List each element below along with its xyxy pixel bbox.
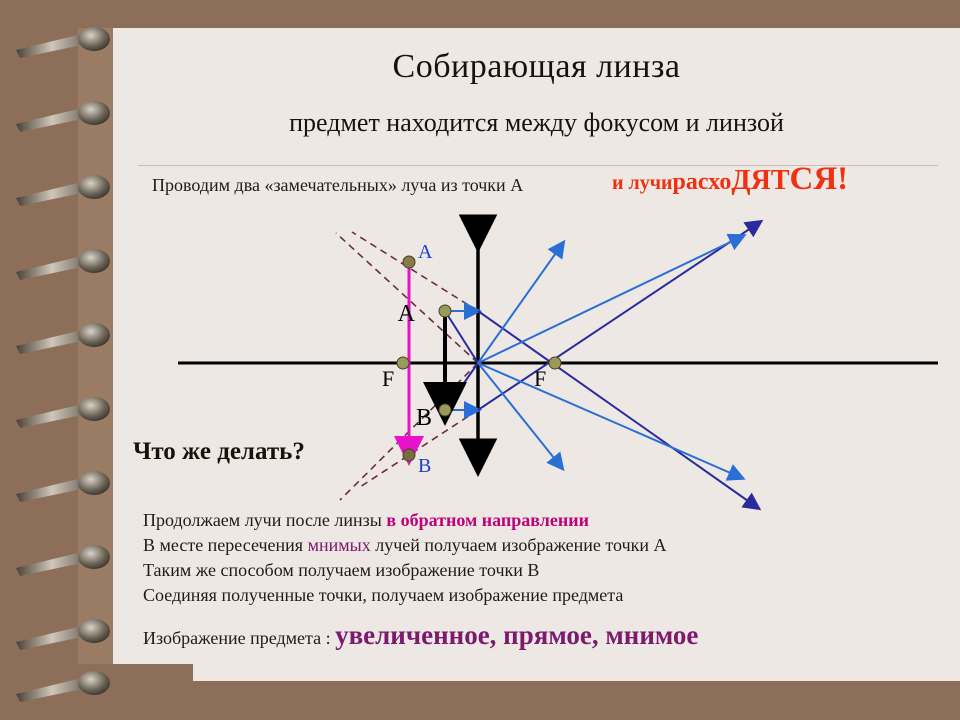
conclusion-line: Изображение предмета : увеличенное, прям… bbox=[143, 620, 698, 651]
refracted-ray-a-parallel bbox=[478, 311, 758, 508]
step-2-text: В месте пересечения bbox=[143, 535, 308, 555]
point-object-b bbox=[439, 404, 451, 416]
slide-canvas: Собирающая линза предмет находится между… bbox=[0, 0, 960, 720]
refracted-ray-short-up bbox=[478, 243, 563, 363]
label-focus-left: F bbox=[382, 366, 394, 391]
step-1-highlight: в обратном направлении bbox=[386, 510, 589, 530]
lens-ray-diagram: A B A B F F bbox=[0, 0, 960, 720]
step-item-3: Таким же способом получаем изображение т… bbox=[143, 558, 933, 583]
label-object-a: A bbox=[398, 301, 416, 327]
step-2-text-after: лучей получаем изображение точки А bbox=[371, 535, 667, 555]
step-2-highlight: мнимых bbox=[308, 535, 371, 555]
what-to-do-text: Что же делать? bbox=[133, 438, 305, 466]
label-image-b: B bbox=[418, 455, 431, 477]
steps-list: Продолжаем лучи после линзы в обратном н… bbox=[143, 508, 933, 608]
refracted-ray-a-centre bbox=[478, 363, 742, 478]
step-3-text: Таким же способом получаем изображение т… bbox=[143, 560, 539, 580]
step-item-4: Соединяя полученные точки, получаем изоб… bbox=[143, 583, 933, 608]
point-image-a bbox=[403, 256, 415, 268]
label-focus-right: F bbox=[534, 366, 546, 391]
conclusion-emphasis: увеличенное, прямое, мнимое bbox=[335, 620, 698, 650]
point-focus-left bbox=[397, 357, 409, 369]
point-focus-right bbox=[549, 357, 561, 369]
label-image-a: A bbox=[418, 241, 433, 263]
virtual-ray-a1 bbox=[352, 232, 478, 311]
refracted-ray-short-down bbox=[478, 363, 562, 468]
incident-ray-b-centre bbox=[445, 363, 478, 410]
step-1-text: Продолжаем лучи после линзы bbox=[143, 510, 386, 530]
step-item-1: Продолжаем лучи после линзы в обратном н… bbox=[143, 508, 933, 533]
refracted-ray-b-centre bbox=[478, 236, 743, 363]
step-item-2: В месте пересечения мнимых лучей получае… bbox=[143, 533, 933, 558]
point-image-b bbox=[403, 449, 415, 461]
label-object-b: B bbox=[416, 405, 432, 431]
point-object-a bbox=[439, 305, 451, 317]
step-4-text: Соединяя полученные точки, получаем изоб… bbox=[143, 585, 623, 605]
conclusion-label: Изображение предмета : bbox=[143, 628, 335, 648]
